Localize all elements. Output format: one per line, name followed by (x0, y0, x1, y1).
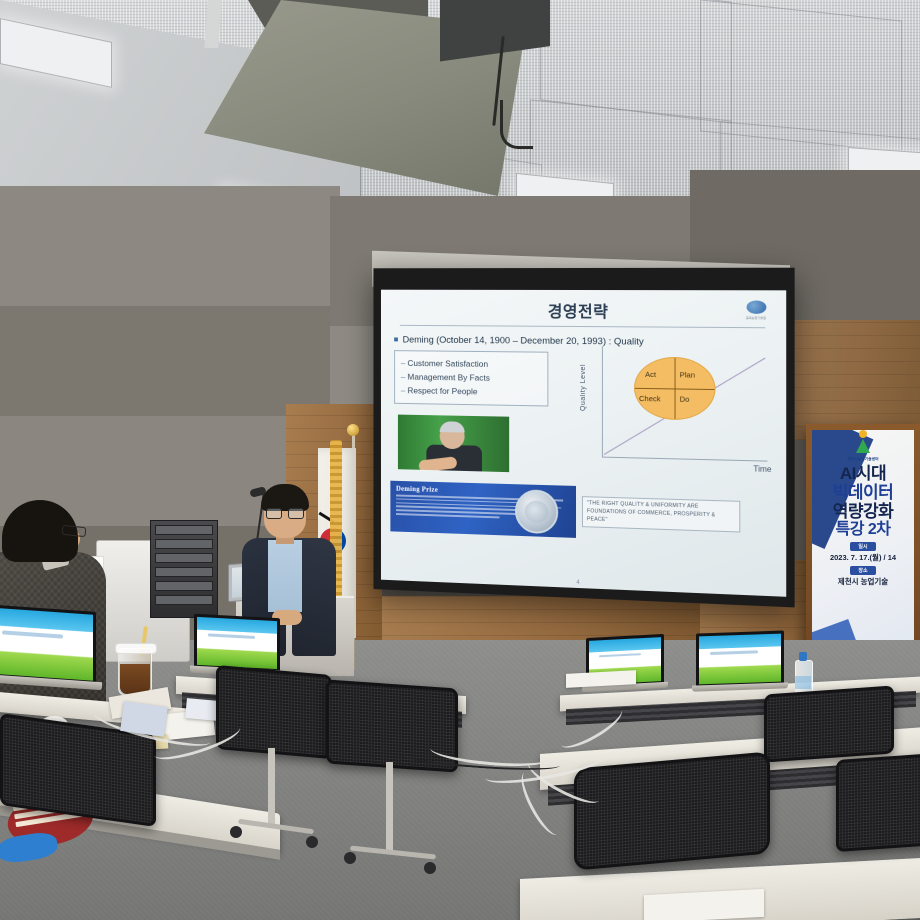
banner-org-name: 제천시농업기술센터 (812, 457, 914, 462)
person-figure-icon (856, 439, 870, 453)
banner-place-tag: 장소 (850, 566, 876, 575)
lecture-room-photo: 충북농업기술원 경영전략 Deming (October 14, 1900 – … (0, 0, 920, 920)
flag-finial (347, 424, 359, 436)
bottle-label (795, 676, 811, 689)
laptop-wallpaper (197, 617, 277, 669)
wall-band (0, 186, 340, 306)
deming-portrait-photo (398, 415, 509, 473)
slide-title: 경영전략 (381, 297, 786, 323)
quality-time-chart: Quality Level Act Plan Check Do Time (578, 346, 772, 481)
slide-title-rule (400, 325, 765, 328)
laptop-left-mid[interactable] (194, 614, 280, 673)
logo-caption: 충북농업기술원 (746, 316, 766, 320)
chair-caster (230, 826, 242, 838)
quality-quote-text: "THE RIGHT QUALITY & UNIFORMITY ARE FOUN… (587, 500, 735, 528)
banner-line-1: AI시대 (812, 465, 914, 482)
chair-caster (424, 862, 436, 874)
pdca-cycle-diagram: Act Plan Check Do (634, 357, 716, 421)
banner-org-logo-icon (853, 436, 873, 456)
chart-ylabel: Quality Level (580, 364, 587, 411)
portrait-hair (440, 421, 465, 432)
bottle-cap (799, 652, 807, 661)
cup-liquid (120, 664, 150, 694)
deming-prize-box: Deming Prize (390, 481, 576, 538)
chair-post (386, 762, 393, 850)
iced-coffee-cup (118, 648, 152, 696)
pdca-check-label: Check (639, 394, 661, 403)
chair[interactable] (574, 751, 770, 870)
banner-line-4: 특강 2차 (812, 522, 914, 538)
chart-y-axis (602, 346, 603, 456)
deming-medal-icon (515, 489, 558, 534)
chart-xlabel: Time (753, 464, 771, 474)
laptop-screen (194, 614, 280, 673)
presentation-slide: 충북농업기술원 경영전략 Deming (October 14, 1900 – … (381, 290, 786, 597)
banner-place: 제천시 농업기술 (812, 576, 914, 587)
chair-post (268, 748, 275, 824)
presenter-glasses-icon (266, 508, 304, 517)
laptop-wallpaper (0, 607, 93, 680)
slide-logo: 충북농업기술원 (740, 300, 771, 321)
chair[interactable] (764, 685, 894, 762)
laptop-right-2[interactable] (696, 630, 784, 687)
presenter-shirt (268, 540, 302, 612)
principle-item: Respect for People (401, 384, 542, 400)
pdca-plan-label: Plan (680, 370, 695, 379)
papers (644, 889, 764, 920)
papers (120, 701, 168, 737)
banner-date: 2023. 7. 17.(월) / 14 (812, 552, 914, 563)
cup-lid (115, 643, 157, 654)
laptop-screen (0, 604, 96, 684)
quality-quote-box: "THE RIGHT QUALITY & UNIFORMITY ARE FOUN… (582, 496, 740, 533)
laptop-attendee[interactable] (0, 604, 96, 684)
banner-line-3: 역량강화 (812, 503, 914, 520)
av-equipment-rack (150, 520, 218, 618)
wall-band (0, 306, 340, 416)
pdca-do-label: Do (680, 395, 690, 404)
globe-logo-icon (746, 300, 766, 313)
projector-cable-loop (500, 100, 533, 149)
pdca-act-label: Act (645, 370, 656, 379)
banner-line-2: 빅데이터 (812, 484, 914, 501)
chair[interactable] (216, 665, 332, 759)
principles-box: Customer Satisfaction Management By Fact… (394, 350, 548, 406)
presenter-hair (261, 484, 309, 511)
projection-screen: 충북농업기술원 경영전략 Deming (October 14, 1900 – … (373, 268, 794, 608)
laptop-screen (696, 630, 784, 687)
laptop-wallpaper (699, 634, 781, 685)
chair[interactable] (836, 752, 920, 852)
banner-date-tag: 일시 (850, 542, 876, 551)
chair-caster (344, 852, 356, 864)
chair-caster (306, 836, 318, 848)
slide-page-number: 4 (576, 580, 579, 586)
bullet-square-icon (394, 338, 398, 342)
